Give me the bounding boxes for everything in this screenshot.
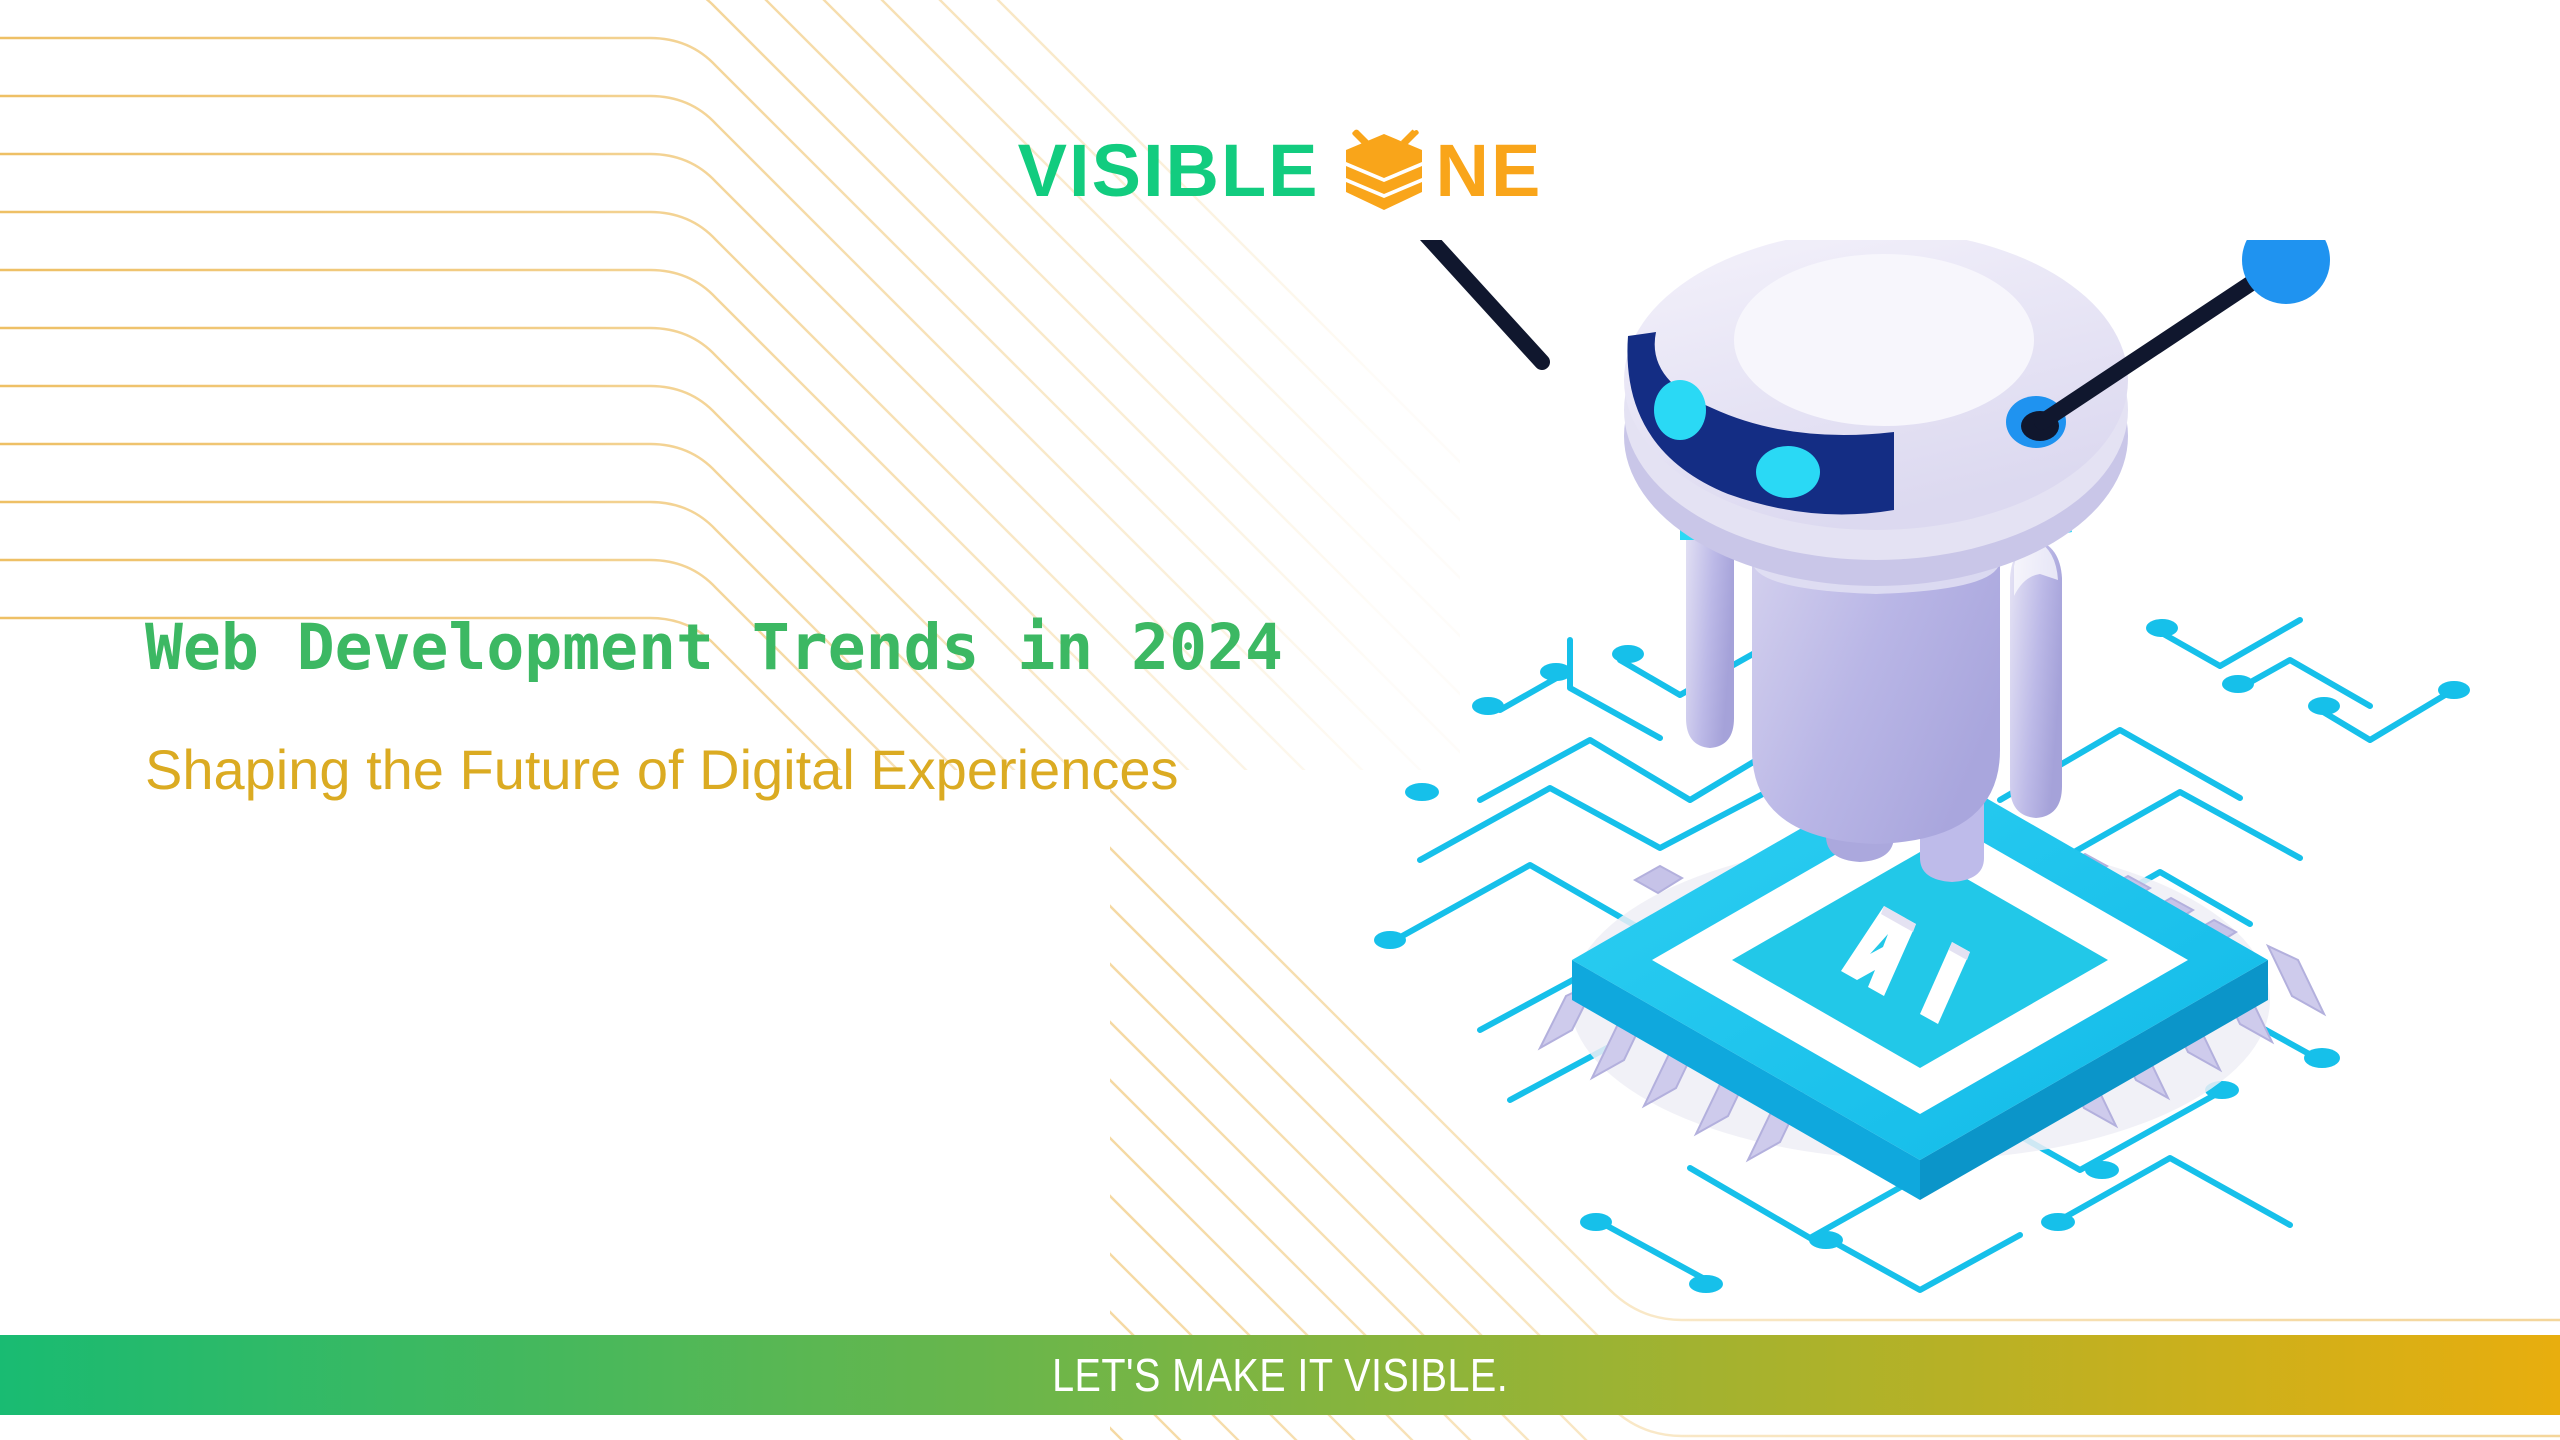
logo-wordmark-ne: NE (1436, 134, 1543, 208)
logo-wordmark-visible: VISIBLE (1018, 134, 1320, 208)
chip-pins-front (1540, 946, 2324, 1160)
footer-banner: LET'S MAKE IT VISIBLE. (0, 1335, 2560, 1415)
brand-logo: VISIBLE NE (0, 128, 2560, 214)
robot-antennae (1360, 240, 2330, 422)
chip-ai-label (1841, 906, 1970, 1024)
page-title: Web Development Trends in 2024 (145, 612, 1705, 684)
robot-head (1624, 240, 2128, 586)
footer-tagline: LET'S MAKE IT VISIBLE. (1052, 1348, 1508, 1402)
presentation-slide: VISIBLE NE Web Development Trends in 202… (0, 0, 2560, 1440)
bee-hexagon-icon (1338, 128, 1430, 214)
robot-legs (1826, 758, 1984, 882)
chip-pins (1635, 854, 2236, 959)
title-block: Web Development Trends in 2024 Shaping t… (145, 612, 1705, 804)
robot-body (1752, 490, 2000, 844)
page-subtitle: Shaping the Future of Digital Experience… (145, 736, 1705, 803)
robot-right-arm (1962, 483, 2072, 818)
ai-chip (1572, 760, 2268, 1200)
